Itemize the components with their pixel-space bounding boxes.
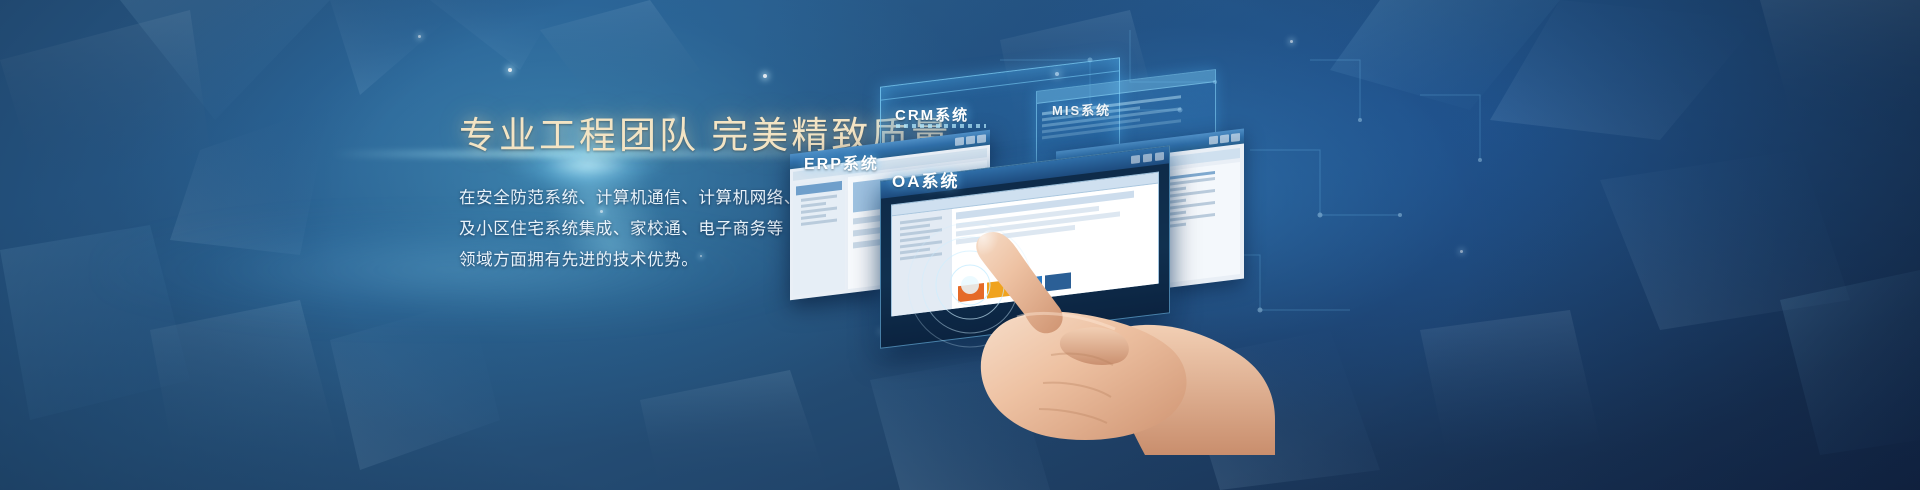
pointing-hand — [955, 205, 1275, 455]
crm-subtitle-dashes — [896, 124, 986, 128]
mis-window-title: MIS系统 — [1052, 100, 1111, 119]
erp-window-title: ERP系统 — [804, 150, 879, 174]
maximize-icon[interactable] — [1220, 134, 1229, 143]
close-icon[interactable] — [1231, 132, 1240, 141]
close-icon[interactable] — [1155, 151, 1164, 160]
erp-sidebar — [793, 178, 845, 296]
close-icon[interactable] — [977, 134, 986, 143]
minimize-icon[interactable] — [1131, 154, 1140, 163]
minimize-icon[interactable] — [1209, 135, 1218, 144]
crm-window-title: CRM系统 — [895, 104, 969, 125]
oa-window-title: OA系统 — [892, 167, 960, 192]
maximize-icon[interactable] — [1143, 153, 1152, 162]
minimize-icon[interactable] — [955, 136, 964, 145]
hero-banner: 专业工程团队 完美精致质量 在安全防范系统、计算机通信、计算机网络、智能大厦 及… — [0, 0, 1920, 490]
maximize-icon[interactable] — [966, 135, 975, 144]
